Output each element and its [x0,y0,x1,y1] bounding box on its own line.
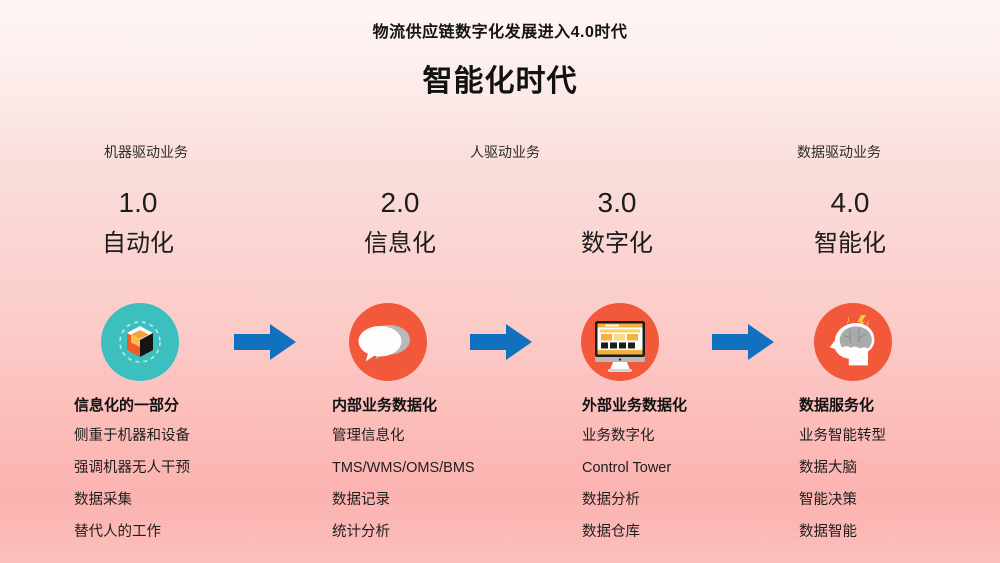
list-item: Control Tower [582,458,832,478]
list-item: 业务智能转型 [799,426,1000,446]
list-item: 智能决策 [799,490,1000,510]
stage-version-3: 3.0 [532,186,702,220]
list-item: 侧重于机器和设备 [74,426,324,446]
stage-details-3: 外部业务数据化 业务数字化 Control Tower 数据分析 数据仓库 [582,395,832,554]
stage-details-4: 数据服务化 业务智能转型 数据大脑 智能决策 数据智能 [799,395,1000,554]
list-item: 数据采集 [74,490,324,510]
stage-name-3: 数字化 [532,224,702,264]
stage-detail-title-2: 内部业务数据化 [332,395,582,417]
list-item: 数据仓库 [582,522,832,542]
stage-head-2: 2.0 信息化 [315,186,485,264]
driver-caption-data: 数据驱动业务 [797,142,881,162]
stage-details-2: 内部业务数据化 管理信息化 TMS/WMS/OMS/BMS 数据记录 统计分析 [332,395,582,554]
arrow-1-to-2-icon [234,322,296,362]
list-item: 强调机器无人干预 [74,458,324,478]
stage-version-4: 4.0 [765,186,935,220]
list-item: 数据分析 [582,490,832,510]
stage-detail-title-3: 外部业务数据化 [582,395,832,417]
stage-name-4: 智能化 [765,224,935,264]
stage-details-1: 信息化的一部分 侧重于机器和设备 强调机器无人干预 数据采集 替代人的工作 [74,395,324,554]
driver-caption-human: 人驱动业务 [470,142,540,162]
stage-head-4: 4.0 智能化 [765,186,935,264]
list-item: 数据智能 [799,522,1000,542]
stage-detail-title-1: 信息化的一部分 [74,395,324,417]
stage-version-1: 1.0 [53,186,223,220]
stage-head-1: 1.0 自动化 [53,186,223,264]
stage-detail-title-4: 数据服务化 [799,395,1000,417]
slide-canvas: 物流供应链数字化发展进入4.0时代 智能化时代 机器驱动业务 人驱动业务 数据驱… [0,0,1000,563]
list-item: 管理信息化 [332,426,582,446]
stage-name-2: 信息化 [315,224,485,264]
stage-name-1: 自动化 [53,224,223,264]
list-item: 数据记录 [332,490,582,510]
list-item: 业务数字化 [582,426,832,446]
slide-headline: 智能化时代 [0,56,1000,100]
stage-version-2: 2.0 [315,186,485,220]
list-item: 替代人的工作 [74,522,324,542]
stage-head-3: 3.0 数字化 [532,186,702,264]
cube-box-icon [101,303,179,381]
list-item: TMS/WMS/OMS/BMS [332,458,582,478]
speech-bubbles-icon [349,303,427,381]
slide-kicker: 物流供应链数字化发展进入4.0时代 [0,18,1000,42]
arrow-3-to-4-icon [712,322,774,362]
list-item: 数据大脑 [799,458,1000,478]
driver-caption-machine: 机器驱动业务 [104,142,188,162]
desktop-monitor-dashboard-icon [581,303,659,381]
head-brain-idea-icon [814,303,892,381]
list-item: 统计分析 [332,522,582,542]
arrow-2-to-3-icon [470,322,532,362]
